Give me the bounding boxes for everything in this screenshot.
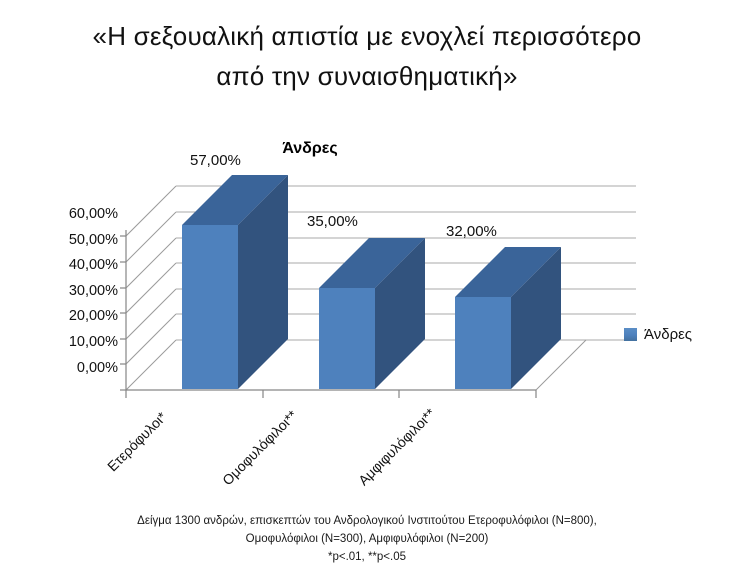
bar-front-face <box>319 288 375 389</box>
bar-front-face <box>455 297 511 389</box>
y-tick-label: 10,00% <box>18 330 118 356</box>
depth-line-60 <box>126 186 176 236</box>
bar-front-face <box>182 225 238 389</box>
chart-legend[interactable]: Άνδρες <box>624 326 692 343</box>
y-axis-ticks <box>120 236 126 390</box>
footnote-line-3: *p<.01, **p<.05 <box>55 548 679 566</box>
depth-connectors <box>126 186 176 390</box>
bar-omo[interactable] <box>319 238 425 389</box>
footnote-line-1: Δείγμα 1300 ανδρών, επισκεπτών του Ανδρο… <box>55 512 679 530</box>
depth-line-20 <box>126 289 176 339</box>
y-tick-label: 20,00% <box>18 304 118 330</box>
legend-swatch-icon <box>624 328 637 341</box>
depth-line-0 <box>126 340 176 390</box>
data-label-omo: 35,00% <box>307 213 358 230</box>
bar-amfi[interactable] <box>455 247 561 389</box>
data-label-amfi: 32,00% <box>446 223 497 240</box>
y-tick-label: 0,00% <box>18 356 118 382</box>
x-axis-ticks <box>126 390 536 398</box>
depth-line-30 <box>126 263 176 313</box>
chart-plot-area: 60,00% 50,00% 40,00% 30,00% 20,00% 10,00… <box>0 130 734 510</box>
depth-line-40 <box>126 238 176 288</box>
bar-etero[interactable] <box>182 175 288 389</box>
y-tick-label: 60,00% <box>18 202 118 228</box>
footnote-line-2: Ομοφυλόφιλοι (N=300), Αμφιφυλόφιλοι (N=2… <box>55 530 679 548</box>
y-axis-labels: 60,00% 50,00% 40,00% 30,00% 20,00% 10,00… <box>18 202 118 381</box>
y-tick-label: 50,00% <box>18 228 118 254</box>
y-tick-label: 30,00% <box>18 279 118 305</box>
depth-line-50 <box>126 212 176 262</box>
y-tick-label: 40,00% <box>18 253 118 279</box>
depth-line-10 <box>126 314 176 364</box>
page-title-line-1: «Η σεξουαλική απιστία με ενοχλεί περισσό… <box>0 16 734 56</box>
chart: Άνδρες <box>0 130 734 510</box>
page-title: «Η σεξουαλική απιστία με ενοχλεί περισσό… <box>0 16 734 96</box>
footnote: Δείγμα 1300 ανδρών, επισκεπτών του Ανδρο… <box>55 512 679 566</box>
data-label-etero: 57,00% <box>190 152 241 169</box>
legend-label-andres: Άνδρες <box>644 326 692 343</box>
page-title-line-2: από την συναισθηματική» <box>0 56 734 96</box>
